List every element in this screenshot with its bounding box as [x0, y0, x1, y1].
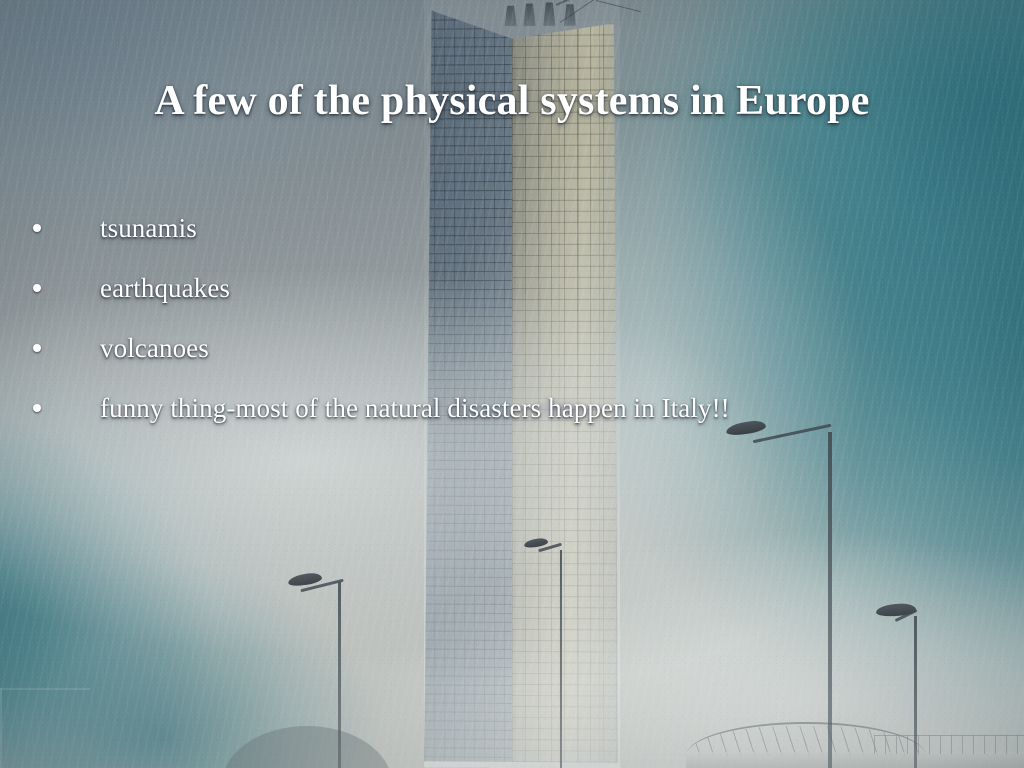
page-title: A few of the physical systems in Europe	[0, 78, 1024, 124]
list-item-label: funny thing-most of the natural disaster…	[100, 392, 730, 424]
list-item: tsunamis	[0, 198, 1024, 258]
presentation-slide: A few of the physical systems in Europe …	[0, 0, 1024, 768]
list-item-label: volcanoes	[100, 332, 209, 364]
list-item-label: tsunamis	[100, 212, 197, 244]
bullet-dot-icon	[33, 224, 41, 232]
list-item: earthquakes	[0, 258, 1024, 318]
bullet-dot-icon	[33, 284, 41, 292]
bullet-dot-icon	[33, 404, 41, 412]
list-item-label: earthquakes	[100, 272, 230, 304]
bullet-list: tsunamis earthquakes volcanoes funny thi…	[0, 198, 1024, 438]
slide-content: A few of the physical systems in Europe …	[0, 0, 1024, 768]
list-item: funny thing-most of the natural disaster…	[0, 378, 1024, 438]
bullet-dot-icon	[33, 344, 41, 352]
list-item: volcanoes	[0, 318, 1024, 378]
